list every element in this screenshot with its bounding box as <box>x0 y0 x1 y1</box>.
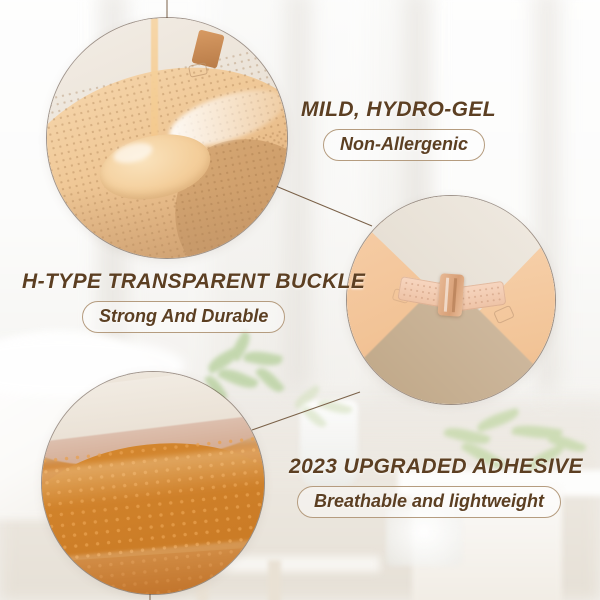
feature-buckle-text: H-TYPE TRANSPARENT BUCKLE Strong And Dur… <box>22 270 365 333</box>
feature-buckle-headline: H-TYPE TRANSPARENT BUCKLE <box>22 270 365 294</box>
gel-stream <box>151 18 158 144</box>
feature-adhesive-headline: 2023 UPGRADED ADHESIVE <box>289 455 583 479</box>
feature-buckle-pill: Strong And Durable <box>82 301 285 333</box>
feature-hydrogel-text: MILD, HYDRO-GEL Non-Allergenic <box>301 98 496 161</box>
gel-pour-photo <box>47 18 287 258</box>
h-buckle-photo <box>347 196 555 404</box>
feature-hydrogel-pill: Non-Allergenic <box>323 129 485 161</box>
h-type-clasp <box>438 273 465 317</box>
feature-adhesive-text: 2023 UPGRADED ADHESIVE Breathable and li… <box>289 455 583 518</box>
adhesive-texture-photo <box>42 372 264 594</box>
cup-shadow <box>47 186 287 258</box>
product-infographic: MILD, HYDRO-GEL Non-Allergenic H-TYPE TR… <box>0 0 600 600</box>
feature-hydrogel-headline: MILD, HYDRO-GEL <box>301 98 496 122</box>
feature-adhesive-pill: Breathable and lightweight <box>297 486 561 518</box>
connector-buckle-to-adhesive <box>252 392 360 430</box>
